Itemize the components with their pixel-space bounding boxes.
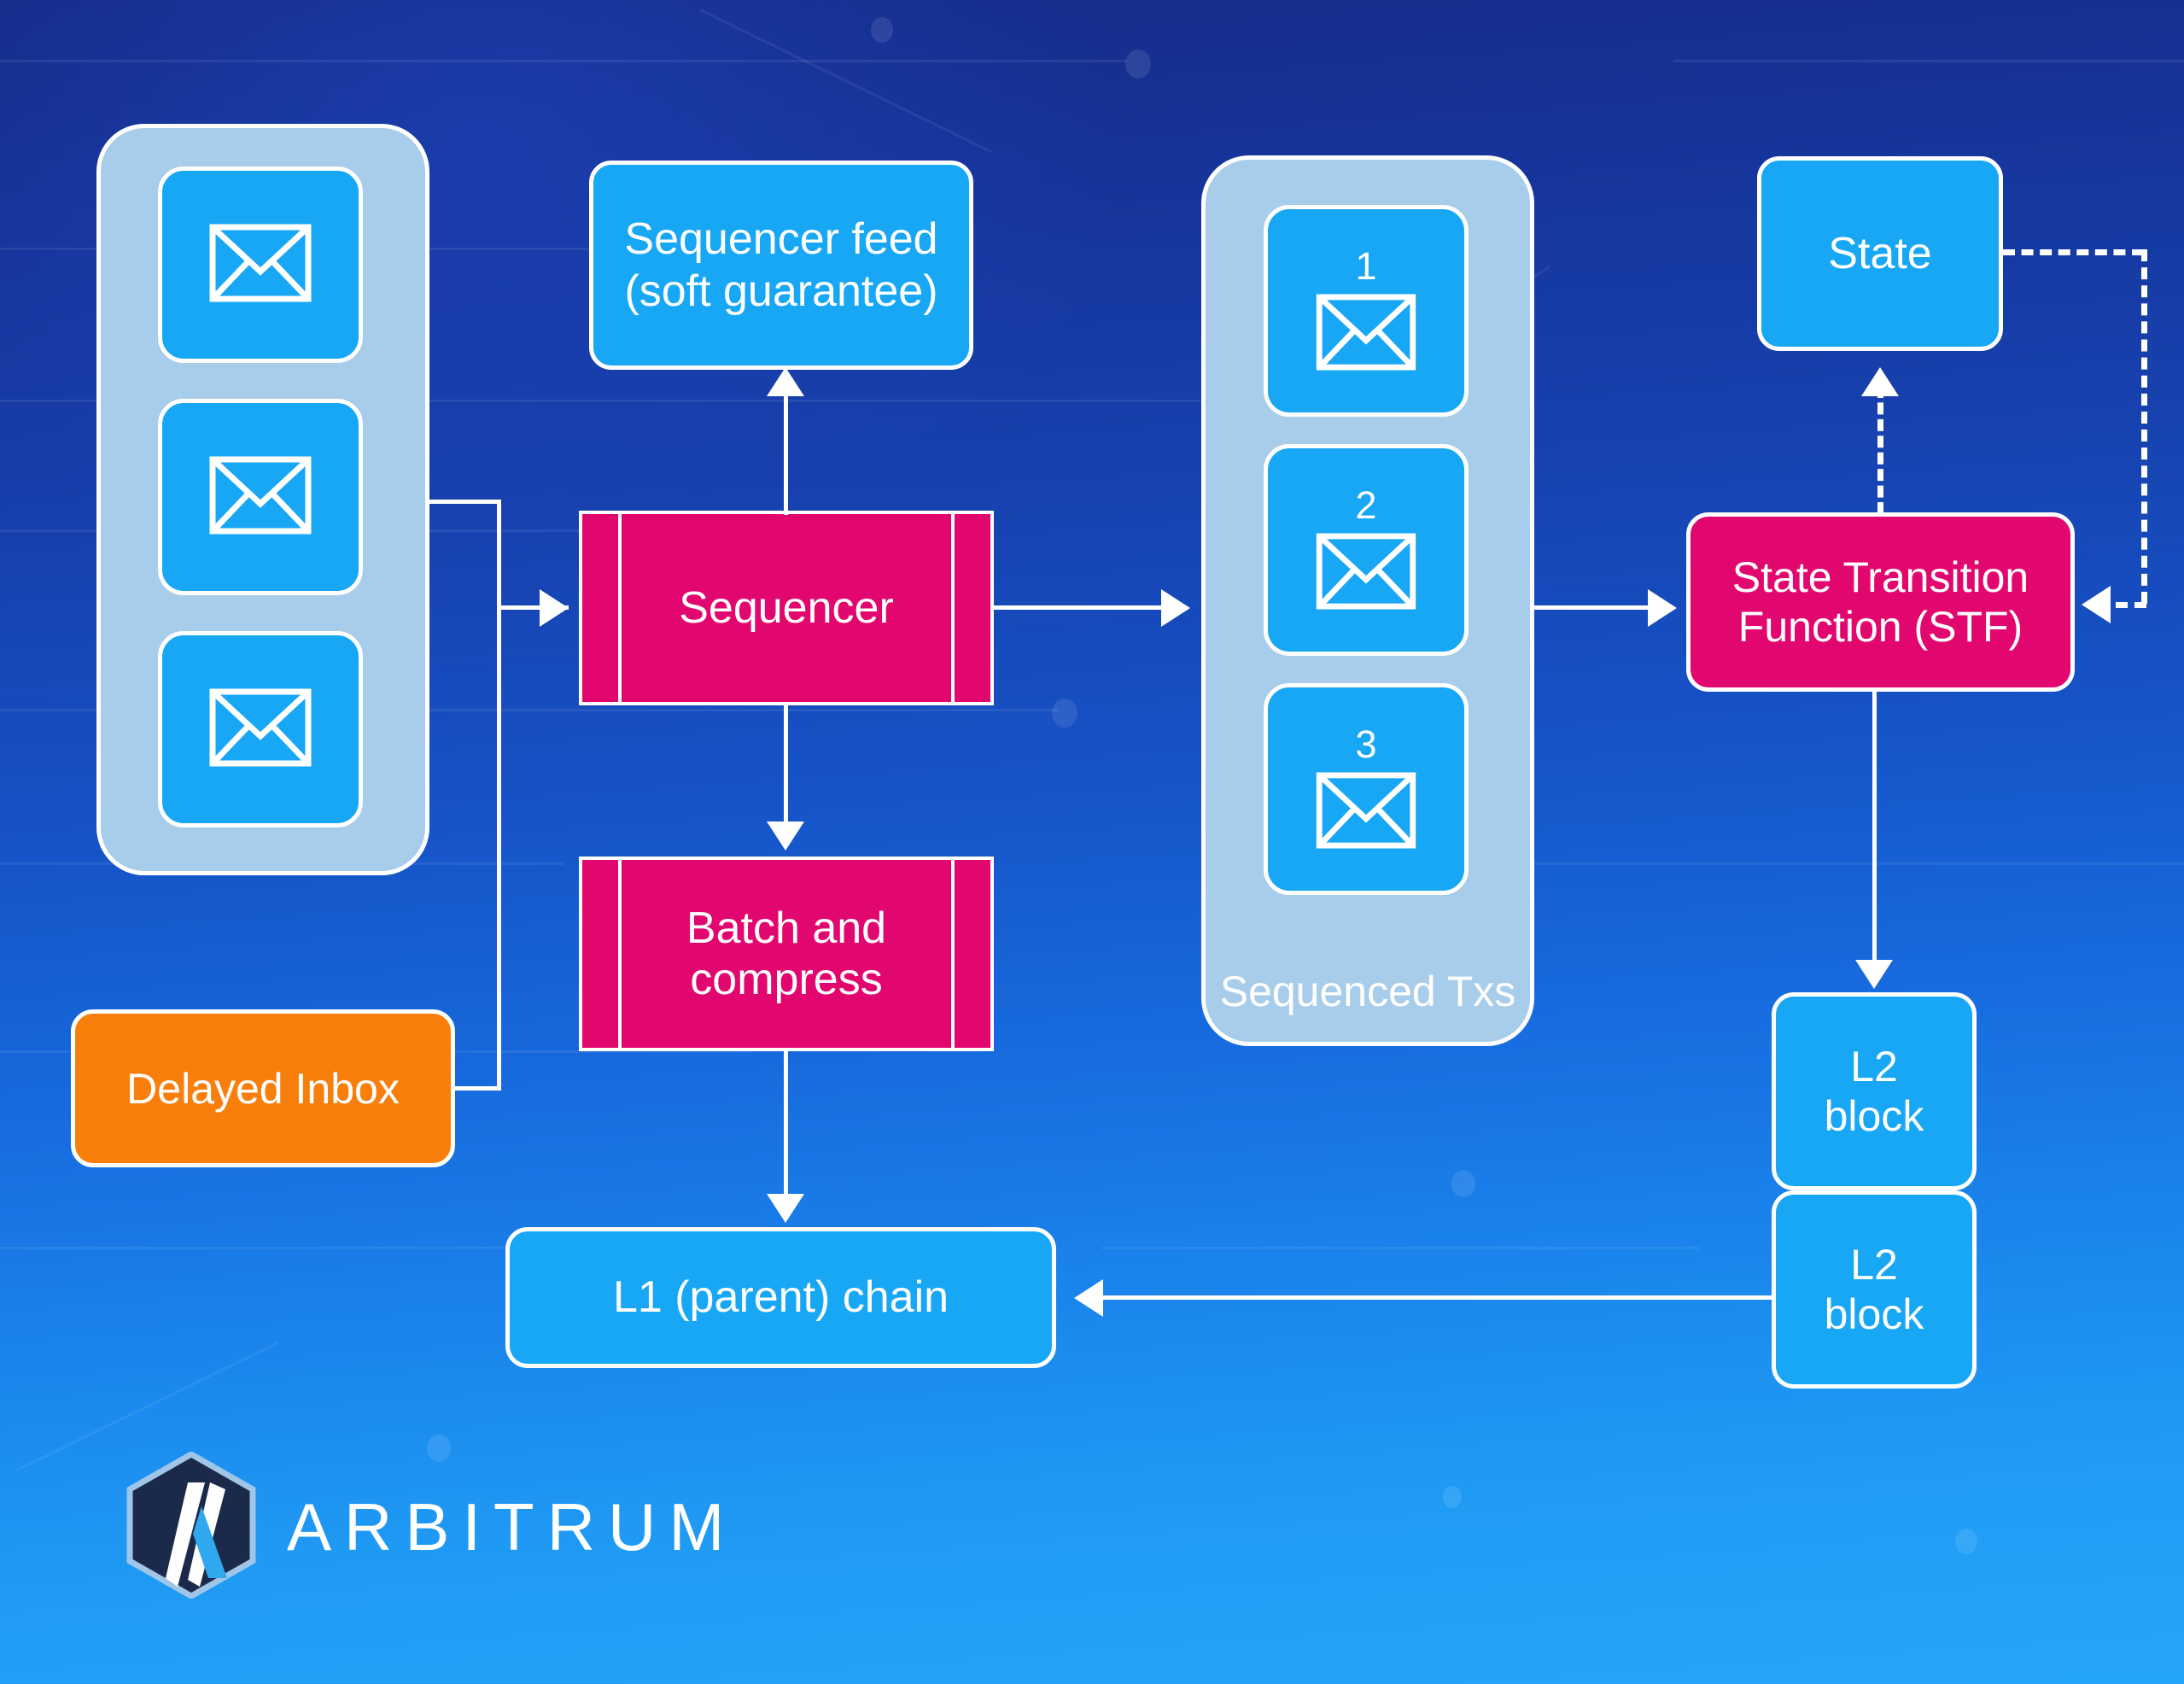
envelope-icon (1316, 533, 1416, 614)
edge-state-feedback-top-dashed (2003, 249, 2144, 255)
edge-delayedinbox-to-junction (455, 1086, 501, 1091)
state-node[interactable]: State (1757, 156, 2003, 351)
arbitrum-wordmark: ARBITRUM (287, 1488, 737, 1566)
l2-block-2-node[interactable]: L2 block (1772, 1190, 1977, 1389)
sequenced-tx-3[interactable]: 3 (1264, 683, 1469, 895)
bg-trace-dot (1125, 50, 1151, 79)
arrowhead-into-l1-from-l2 (1074, 1279, 1103, 1317)
l2-block-2-line-1: L2 (1850, 1240, 1898, 1289)
edge-inbox-to-junction (429, 500, 501, 504)
arbitrum-hexagon-logo-icon (126, 1452, 256, 1603)
bg-trace-dot (1955, 1529, 1977, 1554)
stf-line-1: State Transition (1732, 553, 2029, 602)
stf-node[interactable]: State Transition Function (STF) (1686, 512, 2075, 692)
arrowhead-into-stf (1648, 589, 1677, 627)
bg-trace-dot (871, 17, 893, 43)
bg-trace (0, 60, 1127, 62)
l2-block-1-line-1: L2 (1850, 1042, 1898, 1091)
envelope-icon (209, 688, 312, 771)
sequencer-label: Sequencer (679, 582, 894, 634)
inbox-message-1[interactable] (158, 167, 363, 363)
state-label: State (1828, 228, 1931, 279)
arrowhead-into-stf-feedback (2082, 586, 2111, 623)
sequencer-feed-line-2: (soft guarantee) (624, 266, 937, 317)
bg-trace-dot (1052, 699, 1077, 728)
sequenced-tx-3-number: 3 (1355, 725, 1376, 763)
envelope-icon (209, 456, 312, 539)
sequenced-txs-label: Sequenced Txs (1206, 968, 1530, 1017)
arrowhead-into-state (1861, 367, 1899, 396)
sequenced-txs-label-line-2: Txs (1447, 968, 1516, 1015)
bg-trace (0, 1247, 529, 1249)
l2-block-1-line-2: block (1825, 1091, 1924, 1141)
l1-chain-label: L1 (parent) chain (613, 1272, 949, 1323)
sequencer-feed-line-1: Sequencer feed (624, 213, 937, 265)
edge-stf-to-l2block (1872, 692, 1877, 967)
l2-block-1-node[interactable]: L2 block (1772, 992, 1977, 1190)
batch-compress-line-2: compress (690, 954, 882, 1005)
sequenced-txs-label-line-1: Sequenced (1220, 968, 1436, 1015)
delayed-inbox-label: Delayed Inbox (126, 1064, 400, 1114)
edge-l2block-to-l1 (1103, 1295, 1774, 1300)
bg-trace-diagonal (699, 9, 992, 153)
delayed-inbox-node[interactable]: Delayed Inbox (71, 1009, 455, 1167)
arrowhead-into-l2block (1855, 960, 1893, 989)
edge-junction-spine (497, 500, 501, 1091)
edge-sequencer-to-batch (784, 705, 788, 829)
bg-trace (1673, 60, 2184, 62)
arrowhead-into-l1 (767, 1194, 804, 1223)
arbitrum-logo: ARBITRUM (126, 1452, 737, 1603)
sequenced-tx-2[interactable]: 2 (1264, 444, 1469, 656)
edge-stf-to-state-dashed (1877, 386, 1883, 514)
arrowhead-into-sequencedtxs (1161, 589, 1190, 627)
sequencer-node[interactable]: Sequencer (579, 511, 994, 705)
edge-sequencer-to-sequencedtxs (994, 605, 1165, 610)
edge-sequencedtxs-to-stf (1534, 605, 1654, 610)
edge-batch-to-l1 (784, 1051, 788, 1201)
sequenced-tx-2-number: 2 (1355, 486, 1376, 524)
arrowhead-into-feed (767, 367, 804, 396)
diagram-canvas: Sequencer feed (soft guarantee) Sequence… (0, 0, 2184, 1684)
l1-chain-node[interactable]: L1 (parent) chain (505, 1227, 1056, 1368)
batch-compress-line-1: Batch and (686, 903, 886, 954)
batch-compress-node[interactable]: Batch and compress (579, 857, 994, 1051)
edge-sequencer-to-feed (784, 378, 788, 515)
inbox-message-3[interactable] (158, 631, 363, 827)
bg-trace (1101, 1247, 1699, 1249)
envelope-icon (209, 224, 312, 307)
edge-state-feedback-bottom-dashed (2116, 602, 2146, 608)
l2-block-2-line-2: block (1825, 1289, 1924, 1339)
stf-line-2: Function (STF) (1738, 602, 2023, 652)
sequencer-feed-node[interactable]: Sequencer feed (soft guarantee) (589, 161, 973, 370)
envelope-icon (1316, 772, 1416, 853)
arrowhead-into-batch (767, 822, 804, 851)
sequenced-tx-1[interactable]: 1 (1264, 205, 1469, 417)
inbox-message-2[interactable] (158, 399, 363, 595)
bg-trace-dot (1451, 1170, 1475, 1197)
envelope-icon (1316, 294, 1416, 375)
arrowhead-into-sequencer (540, 589, 569, 627)
edge-state-feedback-side-dashed (2141, 249, 2147, 604)
sequenced-tx-1-number: 1 (1355, 247, 1376, 285)
bg-trace-dot (1443, 1486, 1462, 1508)
